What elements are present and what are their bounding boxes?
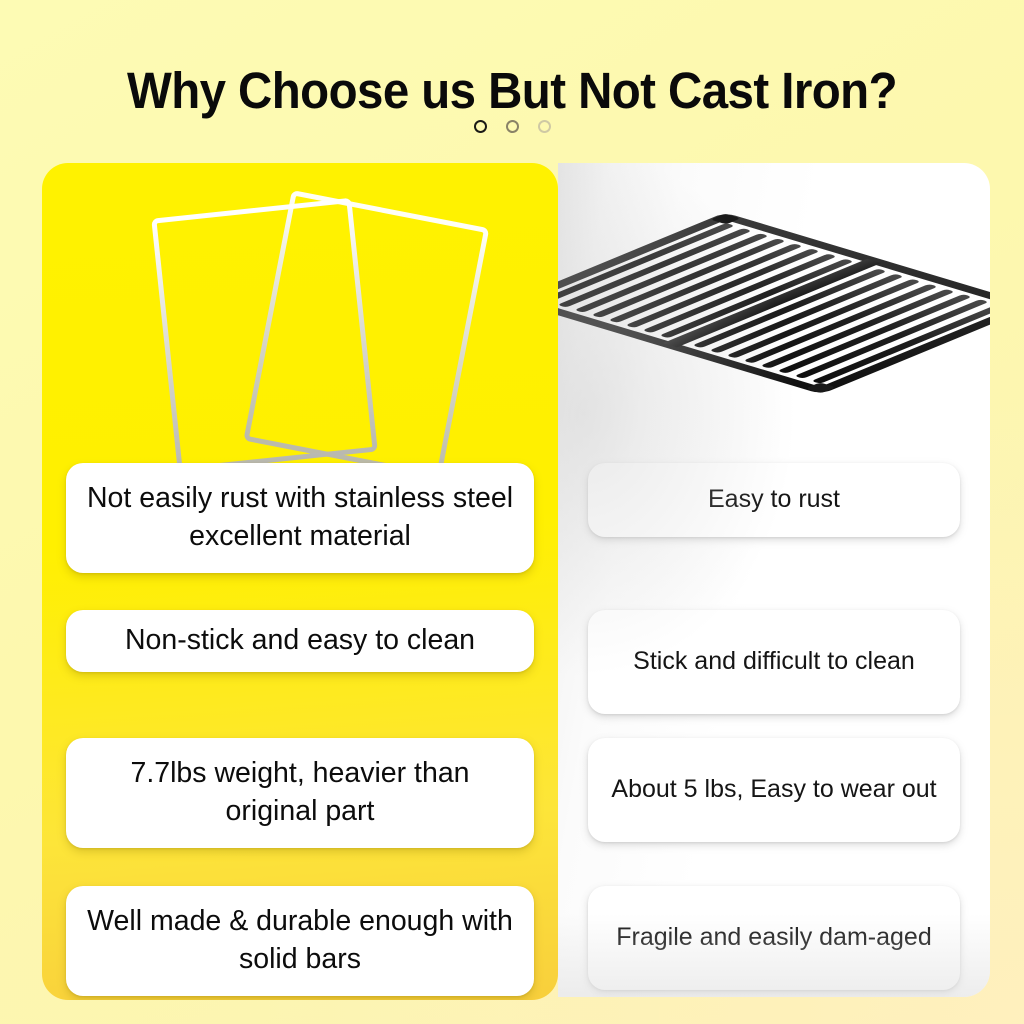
- feature-card-left-1: Not easily rust with stainless steel exc…: [66, 463, 534, 573]
- carousel-dots: [0, 120, 1024, 133]
- comparison-panel-cast-iron: Easy to rust Stick and difficult to clea…: [558, 163, 990, 997]
- feature-card-left-3: 7.7lbs weight, heavier than original par…: [66, 738, 534, 848]
- feature-text: Stick and difficult to clean: [602, 645, 946, 679]
- comparison-panel-our-product: Not easily rust with stainless steel exc…: [42, 163, 558, 1000]
- cast-iron-grate-image: [558, 163, 990, 443]
- feature-card-left-4: Well made & durable enough with solid ba…: [66, 886, 534, 996]
- feature-card-left-2: Non-stick and easy to clean: [66, 610, 534, 672]
- carousel-dot-2[interactable]: [506, 120, 519, 133]
- page-title: Why Choose us But Not Cast Iron?: [36, 64, 988, 118]
- feature-text: About 5 lbs, Easy to wear out: [602, 773, 946, 807]
- feature-card-right-1: Easy to rust: [588, 463, 960, 537]
- feature-text: Easy to rust: [602, 483, 946, 517]
- feature-text: Not easily rust with stainless steel exc…: [82, 480, 518, 556]
- stainless-steel-grates-image: [42, 163, 558, 463]
- page-background: Why Choose us But Not Cast Iron?: [0, 0, 1024, 1024]
- feature-text: Well made & durable enough with solid ba…: [82, 903, 518, 979]
- feature-card-right-2: Stick and difficult to clean: [588, 610, 960, 714]
- feature-text: Fragile and easily dam-aged: [602, 921, 946, 955]
- feature-text: Non-stick and easy to clean: [82, 622, 518, 660]
- feature-card-right-3: About 5 lbs, Easy to wear out: [588, 738, 960, 842]
- carousel-dot-1[interactable]: [474, 120, 487, 133]
- feature-card-right-4: Fragile and easily dam-aged: [588, 886, 960, 990]
- carousel-dot-3[interactable]: [538, 120, 551, 133]
- feature-text: 7.7lbs weight, heavier than original par…: [82, 755, 518, 831]
